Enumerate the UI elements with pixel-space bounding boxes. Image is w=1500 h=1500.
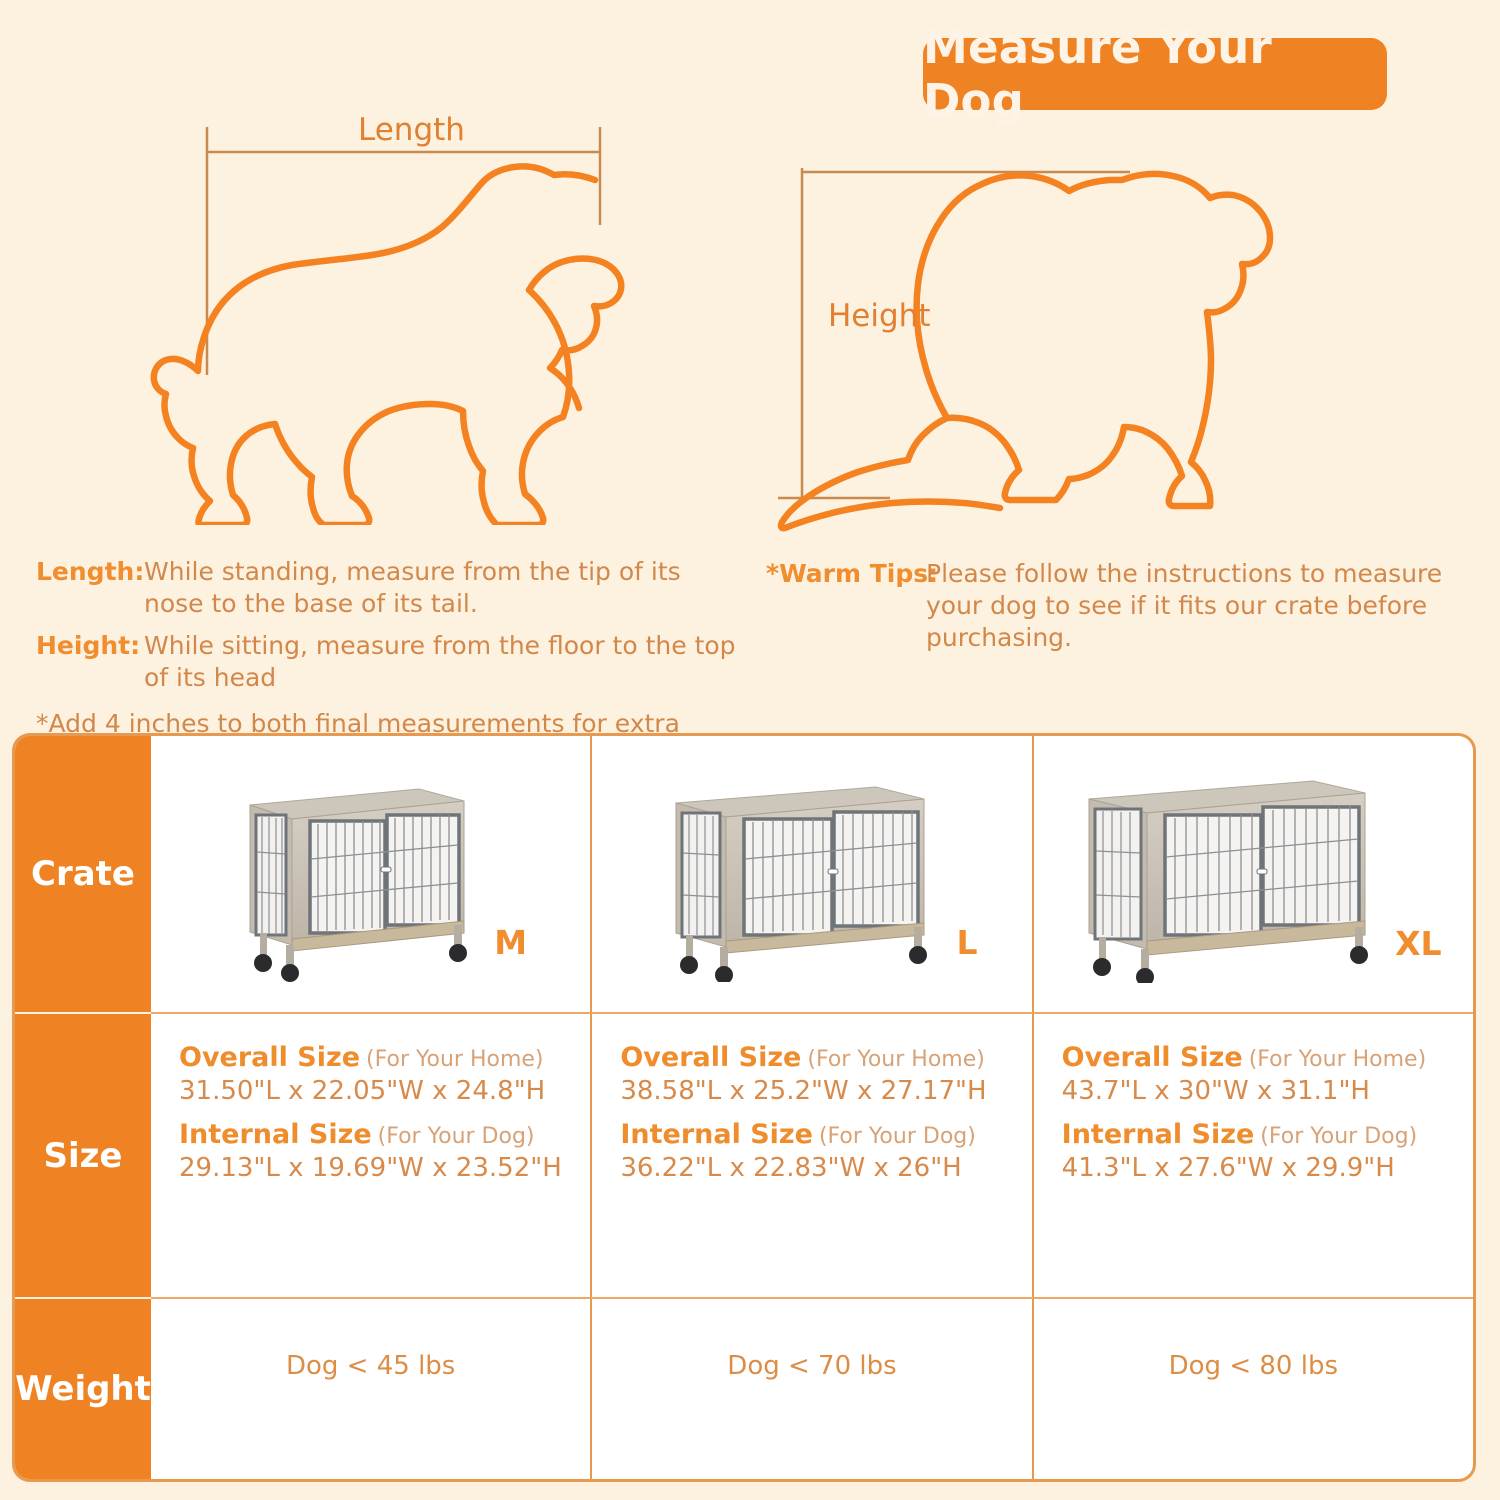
internal-size-group-xl: Internal Size(For Your Dog) 41.3"L x 27.… bbox=[1062, 1119, 1473, 1184]
height-diagram bbox=[770, 150, 1330, 550]
internal-size-sub-l: (For Your Dog) bbox=[819, 1124, 976, 1149]
table-row-crate: M bbox=[151, 736, 1473, 1012]
size-cell-m: Overall Size(For Your Home) 31.50"L x 22… bbox=[151, 1014, 590, 1297]
overall-size-group-l: Overall Size(For Your Home) 38.58"L x 25… bbox=[620, 1042, 1031, 1107]
table-row-size: Overall Size(For Your Home) 31.50"L x 22… bbox=[151, 1012, 1473, 1297]
height-label: Height bbox=[828, 298, 930, 334]
internal-size-value-m: 29.13"L x 19.69"W x 23.52"H bbox=[179, 1153, 590, 1184]
badge-title: Measure Your Dog bbox=[923, 21, 1387, 127]
warm-tips-desc: Please follow the instructions to measur… bbox=[926, 558, 1496, 654]
length-dimension-guide bbox=[207, 127, 600, 375]
overall-size-sub-l: (For Your Home) bbox=[807, 1047, 984, 1072]
weight-value-xl: Dog < 80 lbs bbox=[1169, 1351, 1338, 1381]
dog-crate-image-l bbox=[646, 767, 946, 982]
data-columns: M bbox=[151, 736, 1473, 1479]
crate-cell-xl: XL bbox=[1032, 736, 1473, 1012]
overall-size-sub-xl: (For Your Home) bbox=[1249, 1047, 1426, 1072]
size-badge-xl: XL bbox=[1395, 924, 1441, 963]
instruction-term-height: Height: bbox=[36, 630, 144, 662]
weight-cell-l: Dog < 70 lbs bbox=[590, 1299, 1031, 1479]
size-cell-xl: Overall Size(For Your Home) 43.7"L x 30"… bbox=[1032, 1014, 1473, 1297]
crate-cell-m: M bbox=[151, 736, 590, 1012]
internal-size-group-l: Internal Size(For Your Dog) 36.22"L x 22… bbox=[620, 1119, 1031, 1184]
size-badge-l: L bbox=[956, 923, 977, 962]
overall-size-value-l: 38.58"L x 25.2"W x 27.17"H bbox=[620, 1076, 1031, 1107]
crate-cell-l: L bbox=[590, 736, 1031, 1012]
internal-size-value-l: 36.22"L x 22.83"W x 26"H bbox=[620, 1153, 1031, 1184]
spec-table: Crate Size Weight bbox=[12, 733, 1476, 1482]
instruction-desc-length: While standing, measure from the tip of … bbox=[144, 556, 746, 620]
row-label-crate: Crate bbox=[15, 736, 151, 1012]
instruction-row-height: Height: While sitting, measure from the … bbox=[36, 630, 746, 694]
length-diagram bbox=[150, 105, 670, 525]
row-label-size: Size bbox=[15, 1012, 151, 1297]
internal-size-sub-m: (For Your Dog) bbox=[378, 1124, 535, 1149]
row-label-column: Crate Size Weight bbox=[15, 736, 151, 1479]
weight-cell-xl: Dog < 80 lbs bbox=[1032, 1299, 1473, 1479]
internal-size-value-xl: 41.3"L x 27.6"W x 29.9"H bbox=[1062, 1153, 1473, 1184]
weight-cell-m: Dog < 45 lbs bbox=[151, 1299, 590, 1479]
overall-size-group-xl: Overall Size(For Your Home) 43.7"L x 30"… bbox=[1062, 1042, 1473, 1107]
row-label-weight: Weight bbox=[15, 1297, 151, 1479]
instruction-desc-height: While sitting, measure from the floor to… bbox=[144, 630, 746, 694]
warm-tips-row: *Warm Tips: Please follow the instructio… bbox=[766, 558, 1496, 654]
instruction-term-length: Length: bbox=[36, 556, 144, 588]
instruction-row-length: Length: While standing, measure from the… bbox=[36, 556, 746, 620]
dog-crate-image-m bbox=[214, 767, 484, 982]
weight-value-m: Dog < 45 lbs bbox=[286, 1351, 455, 1381]
warm-tips-term: *Warm Tips: bbox=[766, 558, 926, 590]
length-label: Length bbox=[358, 112, 465, 148]
warm-tips-block: *Warm Tips: Please follow the instructio… bbox=[766, 558, 1496, 664]
internal-size-label-l: Internal Size bbox=[620, 1119, 813, 1150]
weight-value-l: Dog < 70 lbs bbox=[727, 1351, 896, 1381]
size-badge-m: M bbox=[494, 923, 527, 962]
table-row-weight: Dog < 45 lbs Dog < 70 lbs Dog < 80 lbs bbox=[151, 1297, 1473, 1479]
internal-size-group-m: Internal Size(For Your Dog) 29.13"L x 19… bbox=[179, 1119, 590, 1184]
internal-size-label-m: Internal Size bbox=[179, 1119, 372, 1150]
standing-dog-outline-icon bbox=[150, 105, 670, 525]
overall-size-label-xl: Overall Size bbox=[1062, 1042, 1243, 1073]
dog-crate-image-xl bbox=[1065, 765, 1385, 983]
overall-size-label-m: Overall Size bbox=[179, 1042, 360, 1073]
measure-your-dog-badge: Measure Your Dog bbox=[923, 38, 1387, 110]
internal-size-sub-xl: (For Your Dog) bbox=[1260, 1124, 1417, 1149]
overall-size-sub-m: (For Your Home) bbox=[366, 1047, 543, 1072]
internal-size-label-xl: Internal Size bbox=[1062, 1119, 1255, 1150]
sitting-dog-outline-icon bbox=[770, 150, 1330, 550]
overall-size-label-l: Overall Size bbox=[620, 1042, 801, 1073]
overall-size-group-m: Overall Size(For Your Home) 31.50"L x 22… bbox=[179, 1042, 590, 1107]
overall-size-value-m: 31.50"L x 22.05"W x 24.8"H bbox=[179, 1076, 590, 1107]
overall-size-value-xl: 43.7"L x 30"W x 31.1"H bbox=[1062, 1076, 1473, 1107]
size-cell-l: Overall Size(For Your Home) 38.58"L x 25… bbox=[590, 1014, 1031, 1297]
